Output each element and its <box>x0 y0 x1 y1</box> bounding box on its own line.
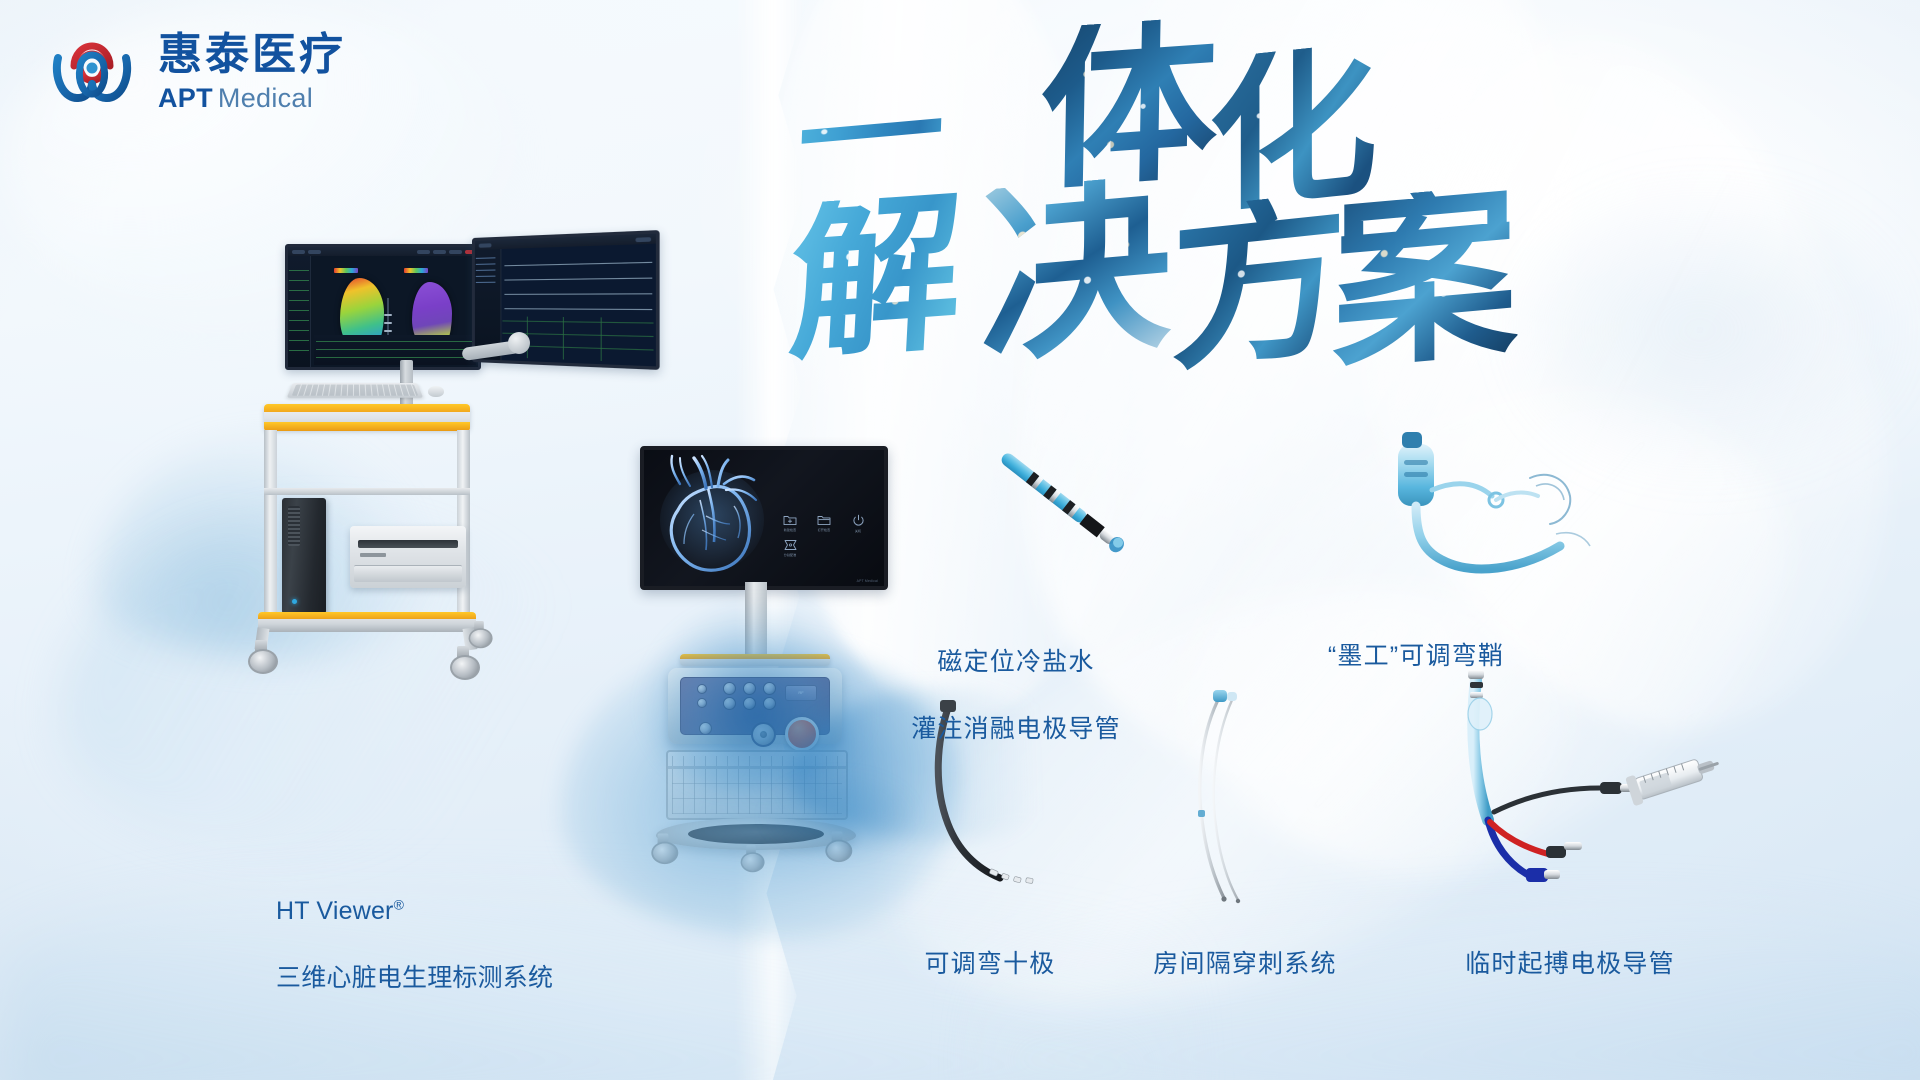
keyboard <box>287 383 423 398</box>
generator-front-panel: RF <box>680 677 830 735</box>
cart-accent-stripe-top <box>264 404 470 412</box>
cart-caster-rear <box>469 621 490 645</box>
power-icon[interactable]: 关机 <box>846 514 870 533</box>
label-ht-viewer: HT Viewer® 三维心脏电生理标测系统 <box>276 828 553 1029</box>
open-study-caption: 打开检查 <box>813 527 836 532</box>
label-ablation-line2: 灌注消融电极导管 <box>866 713 1166 747</box>
monitor-toolbar <box>288 247 478 256</box>
label-ht-viewer-en: HT Viewer® <box>276 862 553 929</box>
apt-medical-interlocking-circles-logo <box>44 22 140 118</box>
cart-accent-stripe-under <box>264 422 470 431</box>
display-cart: 新建检查 打开检查 关机 <box>520 440 820 860</box>
brand-name-en-light: Medical <box>218 85 313 112</box>
new-study-icon[interactable]: 新建检查 <box>778 514 802 533</box>
generator-badge: RF <box>785 685 817 701</box>
headline-char-6: 方 <box>1170 190 1347 373</box>
banner-canvas: 惠泰医疗 APT Medical 一体化解决方案 一 体 化 解 决 方 案 <box>0 0 1920 1080</box>
display-caster-left <box>651 834 674 861</box>
label-ablation-line1: 磁定位冷盐水 <box>866 646 1166 680</box>
new-study-caption: 新建检查 <box>779 527 802 532</box>
display-caster-front <box>741 845 762 869</box>
screen-watermark: APT Medical <box>857 579 878 583</box>
label-pacing-lead: 临时起搏电极导管 <box>1430 948 1710 982</box>
label-steerable-sheath: “墨工”可调弯鞘 <box>1296 640 1536 674</box>
steerable-sheath <box>1380 430 1610 590</box>
heart-anatomy-illustration <box>650 454 778 580</box>
workstation-tower <box>282 498 326 614</box>
arm-joint <box>508 332 530 354</box>
display-cart-base-inner <box>688 824 824 844</box>
printer <box>350 526 466 588</box>
transseptal-puncture-system <box>1180 690 1270 910</box>
waveform-panel <box>314 335 476 365</box>
generator-dial[interactable] <box>751 722 776 747</box>
temporary-pacing-electrode-catheter <box>1450 670 1720 910</box>
brand-logo: 惠泰医疗 APT Medical <box>44 22 346 118</box>
cart-caster-front-left <box>248 640 274 670</box>
power-caption: 关机 <box>847 528 870 533</box>
headline-calligraphy: 一体化解决方案 一 体 化 解 决 方 案 <box>960 30 1620 350</box>
heart-display-monitor: 新建检查 打开检查 关机 <box>640 446 888 590</box>
brand-name-en-bold: APT <box>158 85 213 112</box>
label-ablation-catheter: 磁定位冷盐水 灌注消融电极导管 <box>866 612 1166 780</box>
headline-char-4: 解 <box>786 192 966 363</box>
display-cart-post <box>745 582 767 656</box>
ep-left-monitor <box>285 244 481 370</box>
rf-generator-console: RF <box>668 668 842 744</box>
headline-char-5: 决 <box>980 173 1171 367</box>
cart-column-left <box>264 430 277 620</box>
cart-storage-basket <box>666 750 848 820</box>
brand-name-cn: 惠泰医疗 <box>158 33 346 77</box>
segmentation-caption: 分割配准 <box>779 552 802 557</box>
label-decapolar: 可调弯十极 <box>890 948 1090 982</box>
display-cart-tray-accent <box>680 654 830 659</box>
headline-char-7: 案 <box>1332 184 1517 372</box>
screen-icon-menu[interactable]: 新建检查 打开检查 关机 <box>778 514 870 557</box>
display-caster-right <box>825 832 848 859</box>
brand-name-en: APT Medical <box>158 85 346 112</box>
cart-caster-front-right <box>450 646 476 676</box>
segmentation-icon[interactable]: 分割配准 <box>778 539 802 557</box>
open-study-icon[interactable]: 打开检查 <box>812 514 836 533</box>
ht-viewer-name: HT Viewer <box>276 897 394 925</box>
brand-wordmark: 惠泰医疗 APT Medical <box>158 29 346 112</box>
cart-column-right <box>457 430 470 620</box>
mouse <box>428 386 444 397</box>
intracardiac-ecg-panel <box>288 256 311 367</box>
generator-emergency-button[interactable] <box>785 717 819 751</box>
cart-base-accent <box>258 612 476 619</box>
ht-viewer-trademark: ® <box>394 897 404 913</box>
cart-middle-shelf <box>264 488 470 495</box>
generator-badge-text: RF <box>786 686 816 700</box>
label-transseptal: 房间隔穿刺系统 <box>1120 948 1370 982</box>
irrigated-ablation-catheter <box>980 440 1150 570</box>
label-ht-viewer-cn: 三维心脏电生理标测系统 <box>276 962 553 996</box>
